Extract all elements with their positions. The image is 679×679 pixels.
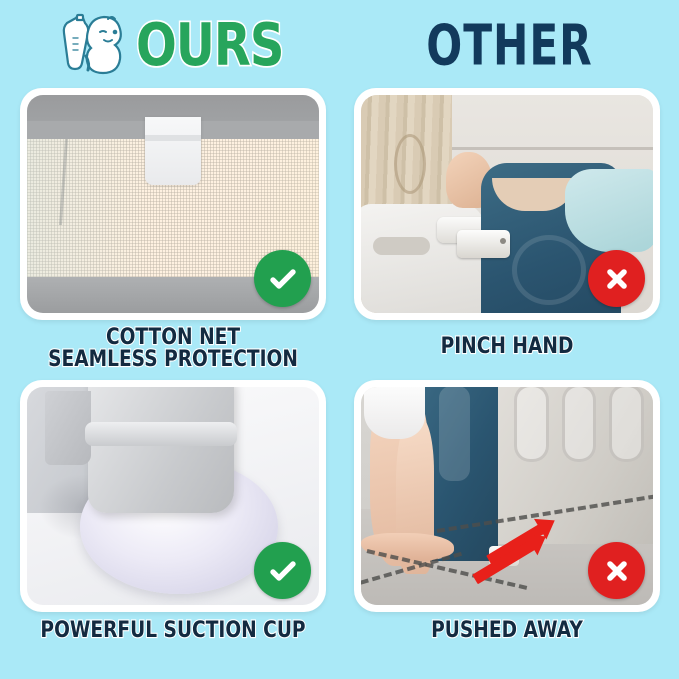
gray-panel-slot	[609, 387, 644, 462]
check-icon	[266, 262, 300, 296]
toddler-garment	[364, 387, 425, 439]
panel-pinch-hand-image	[361, 95, 653, 313]
panel-suction-cup[interactable]	[20, 380, 326, 612]
gray-panel-slot	[514, 387, 549, 462]
blue-panel-cutout	[492, 178, 576, 211]
caption-line-1: POWERFUL SUCTION CUP	[31, 617, 316, 642]
panel-suction-cup-image	[27, 387, 319, 605]
blue-panel-slot	[439, 387, 471, 481]
panel-cotton-net[interactable]	[20, 88, 326, 320]
status-badge-bad	[588, 250, 645, 307]
cross-icon	[600, 262, 634, 296]
playpen-fabric-tab-lip	[145, 135, 201, 141]
header: OURS OTHER	[0, 0, 679, 86]
panel-pushed-away[interactable]	[354, 380, 660, 612]
cross-icon	[600, 554, 634, 588]
caption-pushed-away: PUSHED AWAY	[354, 618, 660, 640]
brand-name: OURS	[136, 14, 283, 75]
gray-playpen-panel	[495, 387, 653, 544]
status-badge-good	[254, 542, 311, 599]
caption-line-1: PUSHED AWAY	[365, 617, 650, 642]
baby-with-bottle-logo-icon	[56, 10, 132, 80]
panel-cotton-net-image	[27, 95, 319, 313]
comparison-infographic: OURS OTHER COTTON NET SEAMLESS PROTECTIO…	[0, 0, 679, 679]
status-badge-good	[254, 250, 311, 307]
status-badge-bad	[588, 542, 645, 599]
check-icon	[266, 554, 300, 588]
blue-panel-ring	[512, 235, 586, 305]
caption-cotton-net: COTTON NET SEAMLESS PROTECTION	[20, 325, 326, 369]
caption-suction-cup: POWERFUL SUCTION CUP	[20, 618, 326, 640]
caption-line-1: PINCH HAND	[365, 333, 650, 358]
playpen-foot-housing	[88, 387, 234, 513]
baby-sleeve	[565, 169, 653, 252]
gray-panel-slot	[562, 387, 597, 462]
foot-lip	[85, 422, 237, 446]
panel-pinch-hand[interactable]	[354, 88, 660, 320]
panel-pushed-away-image	[361, 387, 653, 605]
other-column-title: OTHER	[354, 2, 666, 87]
panel-hinge-clip	[457, 230, 510, 258]
caption-pinch-hand: PINCH HAND	[354, 334, 660, 356]
playpen-fabric-tab	[145, 117, 201, 185]
caption-line-2: SEAMLESS PROTECTION	[31, 346, 316, 371]
wall-trim-line	[452, 147, 653, 150]
foot-side-notch	[45, 391, 92, 465]
brand-lockup: OURS	[56, 8, 336, 82]
